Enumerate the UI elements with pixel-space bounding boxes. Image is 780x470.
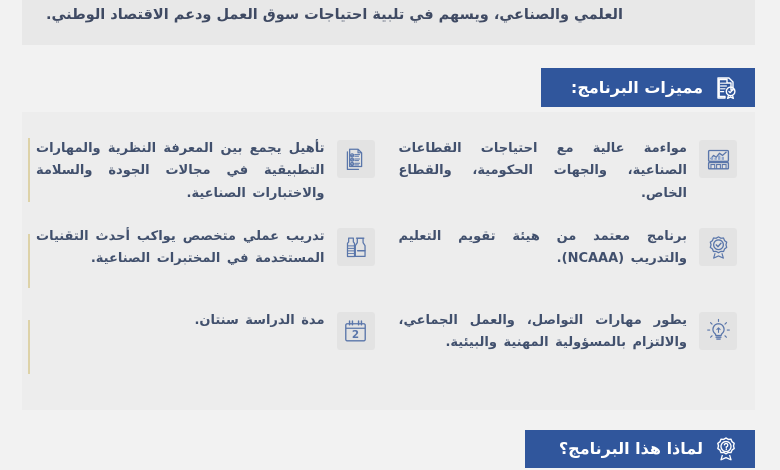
why-heading-label: لماذا هذا البرنامج؟ xyxy=(559,441,703,457)
accreditation-badge-icon xyxy=(699,228,737,266)
features-heading-label: مميزات البرنامج: xyxy=(571,80,703,96)
features-column-left: تأهيل يجمع بين المعرفة النظرية والمهارات… xyxy=(22,122,389,404)
why-heading-banner: لماذا هذا البرنامج؟ xyxy=(525,430,755,468)
feature-text: برنامج معتمد من هيئة تقويم التعليم والتد… xyxy=(399,226,688,271)
intro-paragraph-text: العلمي والصناعي، ويسهم في تلبية احتياجات… xyxy=(46,4,623,26)
intro-paragraph-band: العلمي والصناعي، ويسهم في تلبية احتياجات… xyxy=(22,0,755,45)
feature-text: مواءمة عالية مع احتياجات القطاعات الصناع… xyxy=(399,138,688,205)
feature-item: برنامج معتمد من هيئة تقويم التعليم والتد… xyxy=(395,218,746,304)
features-column-right: مواءمة عالية مع احتياجات القطاعات الصناع… xyxy=(389,122,756,404)
feature-item: يطور مهارات التواصل، والعمل الجماعي، وال… xyxy=(395,304,746,390)
features-heading-banner: مميزات البرنامج: xyxy=(541,68,755,107)
question-badge-icon xyxy=(713,436,739,462)
lab-flask-icon xyxy=(337,228,375,266)
feature-item: 2 مدة الدراسة سنتان. xyxy=(32,304,383,390)
feature-text: مدة الدراسة سنتان. xyxy=(36,310,325,332)
feature-text: تدريب عملي متخصص يواكب أحدث التقنيات الم… xyxy=(36,226,325,271)
factory-growth-chart-icon xyxy=(699,140,737,178)
feature-item: مواءمة عالية مع احتياجات القطاعات الصناع… xyxy=(395,122,746,218)
feature-item: تأهيل يجمع بين المعرفة النظرية والمهارات… xyxy=(32,122,383,218)
feature-text: تأهيل يجمع بين المعرفة النظرية والمهارات… xyxy=(36,138,325,205)
svg-text:2: 2 xyxy=(352,329,359,341)
feature-text: يطور مهارات التواصل، والعمل الجماعي، وال… xyxy=(399,310,688,355)
feature-item: تدريب عملي متخصص يواكب أحدث التقنيات الم… xyxy=(32,218,383,304)
checklist-documents-icon xyxy=(337,140,375,178)
lightbulb-idea-icon xyxy=(699,312,737,350)
features-grid: مواءمة عالية مع احتياجات القطاعات الصناع… xyxy=(22,122,755,404)
certificate-document-icon xyxy=(713,75,739,101)
calendar-2-icon: 2 xyxy=(337,312,375,350)
